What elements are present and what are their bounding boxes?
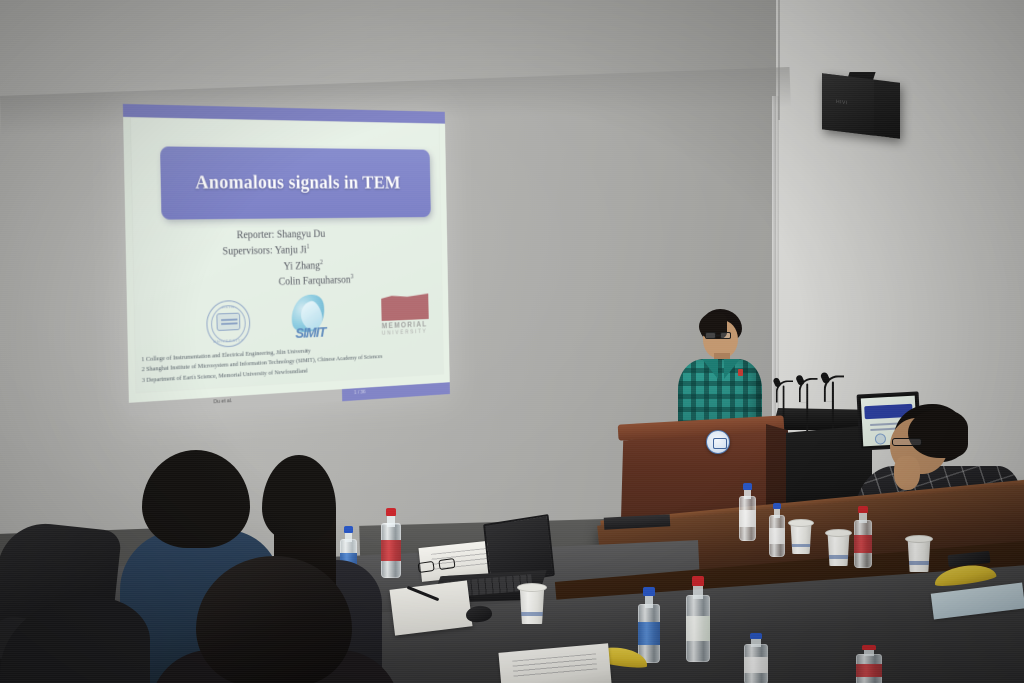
slide-footnotes: 1 College of Instrumentation and Electri… <box>141 340 440 386</box>
podium-university-emblem-icon <box>706 430 730 454</box>
paper-cup-rim <box>788 519 814 527</box>
water-bottle-blue-cap <box>638 587 660 663</box>
conference-room-scene: HIVI Anomalous signals in TEM Reporter: … <box>0 0 1024 683</box>
slide-surface: Anomalous signals in TEM Reporter: Shang… <box>123 104 450 416</box>
paper-cup-rim <box>905 535 933 543</box>
slide-content-area: Anomalous signals in TEM Reporter: Shang… <box>130 117 444 393</box>
paper-cup-rim <box>825 529 852 537</box>
speaker-brand-label: HIVI <box>836 99 848 106</box>
speaker-face <box>822 73 874 135</box>
water-bottle-red-cap <box>856 645 882 683</box>
wall-mounted-speaker: HIVI <box>822 73 900 139</box>
mun-line2: UNIVERSITY <box>382 329 432 337</box>
presenter-badge <box>738 369 743 376</box>
attendee-hair-top <box>908 410 968 458</box>
slide-title-banner: Anomalous signals in TEM <box>160 146 431 219</box>
simit-wordmark: SIMIT <box>295 324 325 341</box>
jilin-university-seal-icon: JILIN UNIVERSITY <box>206 300 250 348</box>
supervisor-2-marker: 2 <box>320 258 323 266</box>
memorial-university-logo-icon: MEMORIAL UNIVERSITY <box>378 293 432 341</box>
presenter-glasses-icon <box>705 332 733 339</box>
supervisor-1-marker: 1 <box>306 243 309 251</box>
water-bottle-blue-cap <box>769 503 785 557</box>
water-bottle-blue-cap <box>739 483 756 541</box>
paper-cup <box>826 532 851 566</box>
water-bottle-blue-cap <box>744 633 768 683</box>
supervisors-text: Supervisors: Yanju Ji <box>222 244 306 257</box>
supervisor-3-text: Colin Farquharson <box>279 275 351 288</box>
attendee-glasses-icon <box>892 438 922 446</box>
simit-logo-icon: SIMIT <box>283 295 342 347</box>
attendee-hand <box>894 456 920 490</box>
supervisor-3-marker: 3 <box>350 273 353 281</box>
notebook <box>389 580 472 635</box>
paper-cup-rim <box>517 583 547 592</box>
water-bottle-red-cap <box>854 506 872 568</box>
slide-title: Anomalous signals in TEM <box>161 172 431 195</box>
water-bottle-red-cap <box>381 508 401 578</box>
projected-slide: Anomalous signals in TEM Reporter: Shang… <box>123 104 450 416</box>
water-bottle-red-cap <box>686 576 710 662</box>
slide-page-number: 1 / 36 <box>354 389 366 395</box>
supervisor-2-text: Yi Zhang <box>283 260 320 272</box>
slide-author-block: Reporter: Shangyu Du Supervisors: Yanju … <box>222 226 430 293</box>
paper-cup <box>906 538 932 572</box>
reporter-text: Reporter: Shangyu Du <box>237 228 326 241</box>
slide-footer-citation: Du et al. <box>214 398 233 405</box>
